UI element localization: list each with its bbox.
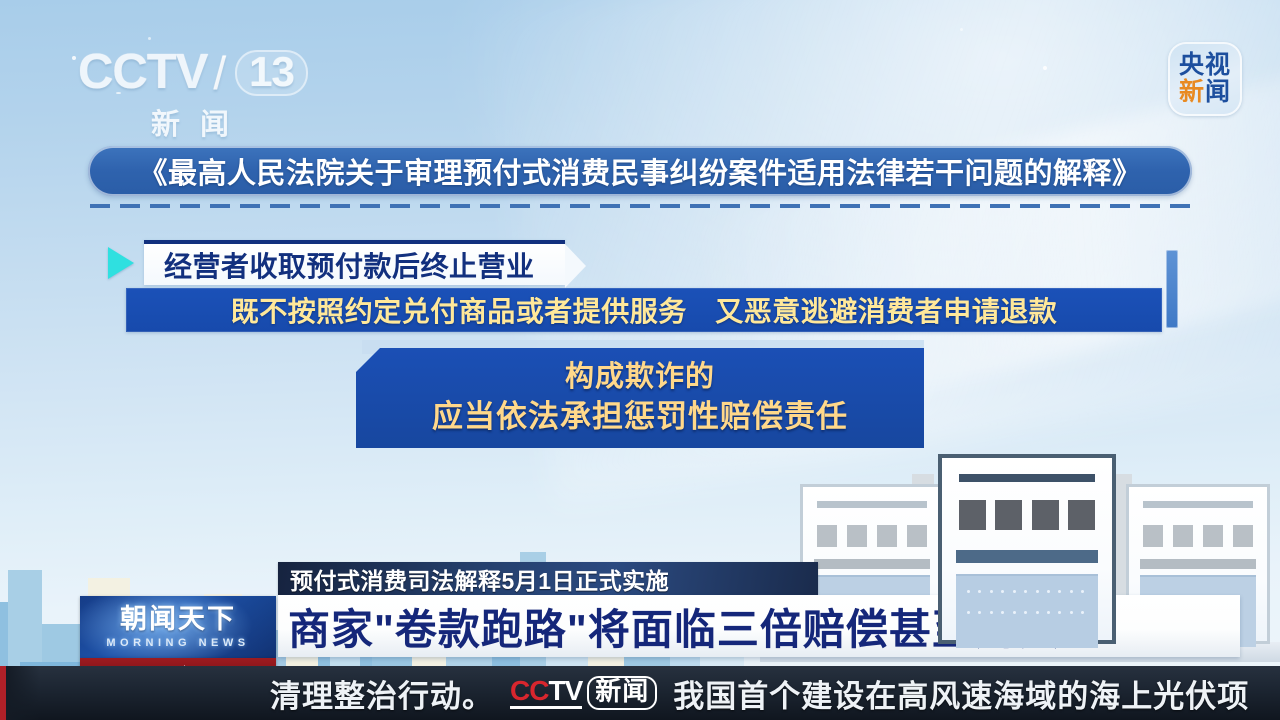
window <box>1143 525 1163 547</box>
row1-tag: 经营者收取预付款后终止营业 <box>144 240 565 285</box>
window <box>817 525 837 547</box>
ticker-left-fade <box>6 666 40 720</box>
window <box>1173 525 1193 547</box>
row3-panel: 构成欺诈的 应当依法承担惩罚性赔偿责任 <box>356 348 924 448</box>
graphic-row-2: 既不按照约定兑付商品或者提供服务 又恶意逃避消费者申请退款 <box>126 288 1162 332</box>
badge-char-xin: 新 <box>1179 80 1205 106</box>
sparkle-dot <box>960 28 963 31</box>
building-cap-line <box>959 474 1095 482</box>
kicker-text: 预付式消费司法解释5月1日正式实施 <box>290 562 669 596</box>
building-band <box>1140 559 1256 569</box>
program-logo: 朝闻天下 MORNING NEWS <box>80 596 276 658</box>
cctv-letters: CCTV <box>78 48 207 97</box>
window <box>1203 525 1223 547</box>
building-band <box>956 550 1099 563</box>
window <box>1233 525 1253 547</box>
ticker-text-current: 我国首个建设在高风速海域的海上光伏项 <box>673 671 1249 716</box>
right-accent-bar <box>1166 250 1178 328</box>
graphic-row-3: 构成欺诈的 应当依法承担惩罚性赔偿责任 <box>356 348 924 448</box>
ticker-cctv-t: T <box>548 675 564 706</box>
program-name-cn: 朝闻天下 <box>120 606 236 633</box>
office-building-center <box>938 454 1116 644</box>
cctv-wordmark: CCTV / 13 <box>78 48 328 97</box>
ticker-text-previous: 清理整治行动。 <box>270 671 494 716</box>
cctv-news-app-badge: 央视 新 闻 <box>1168 42 1242 116</box>
glass-dot-grid <box>956 576 1099 648</box>
ticker-cctv-news-logo: CCTV 新闻 <box>510 676 657 709</box>
graphic-title-pill: 《最高人民法院关于审理预付式消费民事纠纷案件适用法律若干问题的解释》 <box>88 146 1192 196</box>
building-cap-line <box>1143 501 1253 508</box>
window-row <box>817 525 927 547</box>
window <box>1032 500 1059 530</box>
ticker-cctv-v: V <box>565 675 583 706</box>
building-band <box>814 559 930 569</box>
graphic-title-text: 《最高人民法院关于审理预付式消费民事纠纷案件适用法律若干问题的解释》 <box>138 150 1141 192</box>
sparkle-dot <box>1043 66 1047 70</box>
row3-line-1: 构成欺诈的 <box>565 360 715 395</box>
badge-char-wen: 闻 <box>1205 80 1231 106</box>
channel-number: 13 <box>235 50 308 96</box>
row3-line-2: 应当依法承担惩罚性赔偿责任 <box>432 398 848 436</box>
sparkle-dot <box>148 37 151 40</box>
window <box>959 500 986 530</box>
row2-text: 既不按照约定兑付商品或者提供服务 又恶意逃避消费者申请退款 <box>231 290 1058 330</box>
program-name-en: MORNING NEWS <box>106 637 249 649</box>
window <box>1068 500 1095 530</box>
row1-text: 经营者收取预付款后终止营业 <box>164 245 535 285</box>
window <box>995 500 1022 530</box>
channel-name-cn: 新闻 <box>78 101 302 143</box>
dashed-divider <box>90 204 1190 208</box>
ticker-news-cn: 新闻 <box>587 676 657 709</box>
building-cap-line <box>817 501 927 508</box>
ticker-cctv-mark: CCTV <box>510 677 582 709</box>
logo-slash: / <box>213 50 225 96</box>
badge-line-1: 央视 <box>1179 53 1231 79</box>
building-glass-panel <box>956 574 1099 648</box>
play-triangle-icon <box>108 247 134 279</box>
graphic-row-1: 经营者收取预付款后终止营业 <box>108 240 565 285</box>
window-row <box>959 500 1095 530</box>
cctv13-logo: CCTV / 13 新闻 <box>78 48 328 144</box>
broadcast-frame: CCTV / 13 新闻 央视 新 闻 《最高人民法院关于审理预付式消费民事纠纷… <box>0 0 1280 720</box>
window-row <box>1143 525 1253 547</box>
window <box>877 525 897 547</box>
lower-third-kicker: 预付式消费司法解释5月1日正式实施 <box>278 562 818 595</box>
ticker-cctv-red-c: CC <box>510 675 548 706</box>
window <box>847 525 867 547</box>
badge-line-2: 新 闻 <box>1179 80 1231 106</box>
sparkle-dot <box>72 56 76 60</box>
window <box>907 525 927 547</box>
news-ticker[interactable]: 清理整治行动。 CCTV 新闻 我国首个建设在高风速海域的海上光伏项 <box>0 666 1280 720</box>
